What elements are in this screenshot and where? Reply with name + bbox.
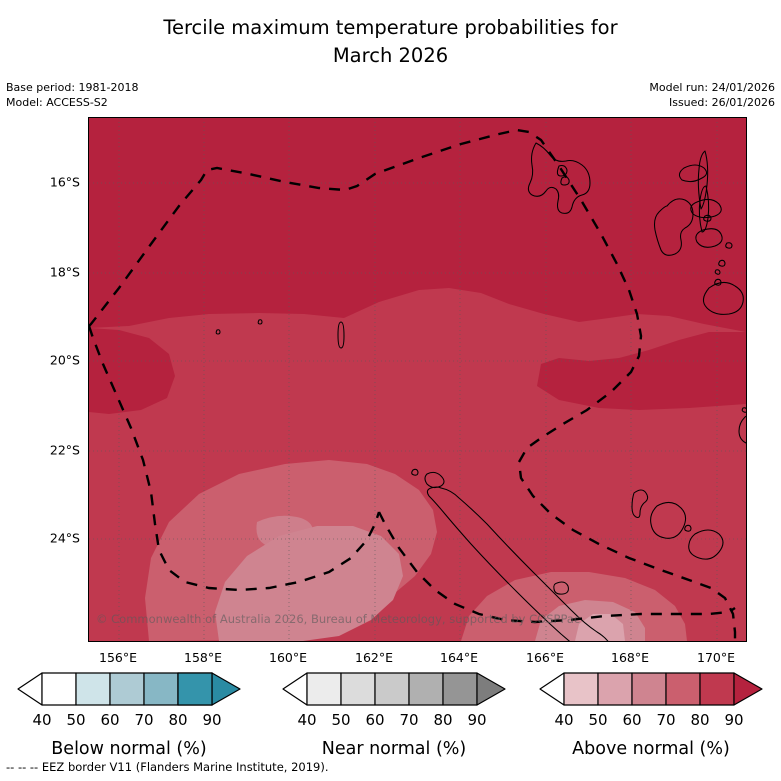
cbar-below-under-arrow [18, 673, 42, 705]
metadata-right: Model run: 24/01/2026 Issued: 26/01/2026 [649, 80, 775, 110]
x-tick-162e: 162°E [355, 650, 393, 665]
cbar-near-tick-70: 70 [399, 711, 418, 729]
colorbar-near-normal[interactable]: 40 50 60 70 80 90 Near normal (%) [269, 668, 519, 759]
cbar-below-seg-2 [76, 673, 110, 705]
cbar-above-seg-4 [666, 673, 700, 705]
colorbar-near-ticks: 40 50 60 70 80 90 [269, 711, 519, 735]
model-run-text: Model run: 24/01/2026 [649, 80, 775, 95]
cbar-below-tick-40: 40 [32, 711, 51, 729]
x-tick-168e: 168°E [611, 650, 649, 665]
cbar-above-tick-90: 90 [724, 711, 743, 729]
model-text: Model: ACCESS-S2 [6, 95, 138, 110]
page-title: Tercile maximum temperature probabilitie… [0, 14, 781, 70]
metadata-left: Base period: 1981-2018 Model: ACCESS-S2 [6, 80, 138, 110]
colorbar-below-caption: Below normal (%) [4, 739, 254, 759]
cbar-above-under-arrow [540, 673, 564, 705]
cbar-above-seg-2 [598, 673, 632, 705]
cbar-above-seg-1 [564, 673, 598, 705]
colorbar-above-caption: Above normal (%) [526, 739, 776, 759]
y-tick-22s: 22°S [18, 443, 80, 458]
cbar-below-tick-70: 70 [134, 711, 153, 729]
cbar-above-tick-70: 70 [656, 711, 675, 729]
x-tick-164e: 164°E [440, 650, 478, 665]
cbar-near-seg-1 [307, 673, 341, 705]
y-tick-18s: 18°S [18, 265, 80, 280]
y-tick-24s: 24°S [18, 531, 80, 546]
colorbar-above-normal[interactable]: 40 50 60 70 80 90 Above normal (%) [526, 668, 776, 759]
eez-dash-sample: -- -- -- [6, 760, 38, 774]
cbar-below-seg-3 [110, 673, 144, 705]
cbar-above-tick-40: 40 [554, 711, 573, 729]
map-plot-area[interactable] [88, 117, 747, 642]
cbar-near-over-arrow [477, 673, 505, 705]
x-tick-158e: 158°E [184, 650, 222, 665]
cbar-near-under-arrow [283, 673, 307, 705]
colorbar-below-ticks: 40 50 60 70 80 90 [4, 711, 254, 735]
cbar-near-tick-40: 40 [297, 711, 316, 729]
cbar-above-over-arrow [734, 673, 762, 705]
eez-footnote-label: EEZ border V11 (Flanders Marine Institut… [42, 760, 329, 774]
cbar-above-tick-50: 50 [588, 711, 607, 729]
cbar-above-tick-80: 80 [690, 711, 709, 729]
cbar-near-seg-5 [443, 673, 477, 705]
colorbar-above-swatches [526, 668, 776, 710]
base-period-text: Base period: 1981-2018 [6, 80, 138, 95]
cbar-below-tick-90: 90 [202, 711, 221, 729]
cbar-above-seg-5 [700, 673, 734, 705]
cbar-above-tick-60: 60 [622, 711, 641, 729]
cbar-near-tick-80: 80 [433, 711, 452, 729]
cbar-near-seg-3 [375, 673, 409, 705]
probability-map [89, 118, 746, 641]
cbar-near-seg-2 [341, 673, 375, 705]
cbar-below-seg-1 [42, 673, 76, 705]
y-tick-16s: 16°S [18, 175, 80, 190]
colorbar-above-ticks: 40 50 60 70 80 90 [526, 711, 776, 735]
x-tick-156e: 156°E [99, 650, 137, 665]
eez-footnote: -- -- -- EEZ border V11 (Flanders Marine… [6, 760, 329, 774]
x-tick-170e: 170°E [697, 650, 735, 665]
cbar-below-seg-4 [144, 673, 178, 705]
cbar-below-tick-80: 80 [168, 711, 187, 729]
cbar-near-tick-50: 50 [331, 711, 350, 729]
colorbar-near-caption: Near normal (%) [269, 739, 519, 759]
y-tick-20s: 20°S [18, 353, 80, 368]
cbar-near-tick-90: 90 [467, 711, 486, 729]
cbar-near-tick-60: 60 [365, 711, 384, 729]
cbar-below-tick-50: 50 [66, 711, 85, 729]
colorbar-below-swatches [4, 668, 254, 710]
cbar-above-seg-3 [632, 673, 666, 705]
cbar-near-seg-4 [409, 673, 443, 705]
x-tick-166e: 166°E [526, 650, 564, 665]
issued-text: Issued: 26/01/2026 [649, 95, 775, 110]
cbar-below-seg-6b [178, 673, 212, 705]
colorbar-near-swatches [269, 668, 519, 710]
cbar-below-tick-60: 60 [100, 711, 119, 729]
x-tick-160e: 160°E [269, 650, 307, 665]
colorbar-below-normal[interactable]: 40 50 60 70 80 90 Below normal (%) [4, 668, 254, 759]
cbar-below-over-arrow [212, 673, 240, 705]
